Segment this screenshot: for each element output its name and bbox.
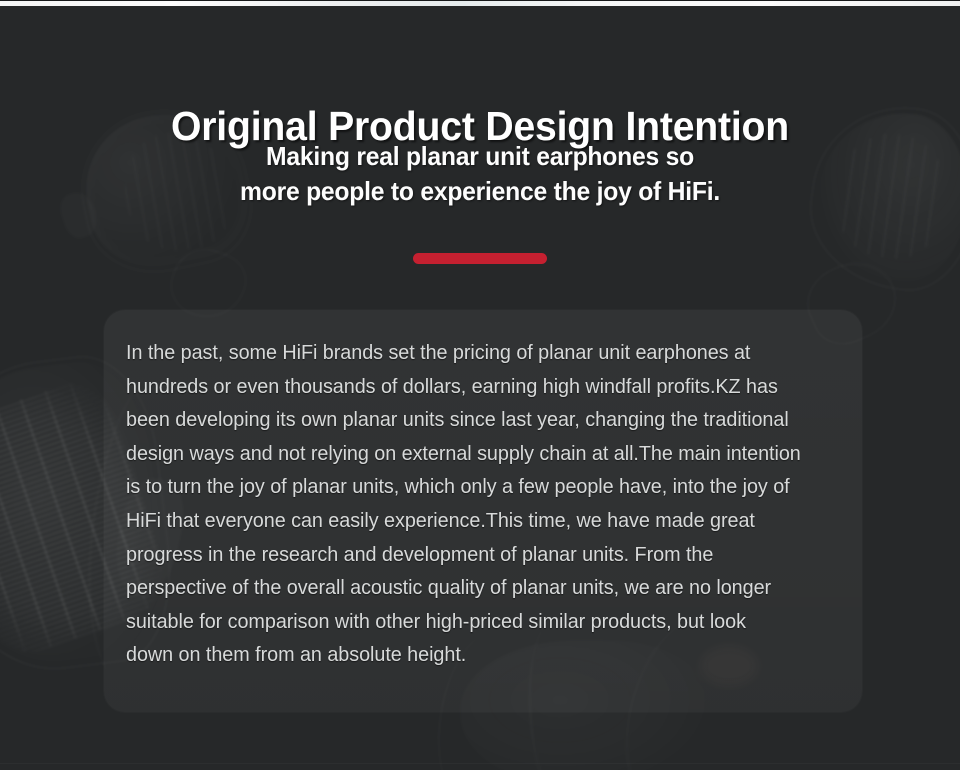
intro-paragraph-line: been developing its own planar units sin…	[126, 403, 836, 437]
product-design-intention-banner: Original Product Design Intention Making…	[0, 0, 960, 770]
page-subtitle-line: Making real planar unit earphones so	[24, 139, 936, 174]
page-subtitle: Making real planar unit earphones so mor…	[24, 139, 936, 209]
intro-paragraph-line: perspective of the overall acoustic qual…	[126, 571, 836, 605]
intro-paragraph-line: is to turn the joy of planar units, whic…	[126, 470, 836, 504]
intro-paragraph: In the past, some HiFi brands set the pr…	[126, 336, 836, 672]
page-subtitle-line: more people to experience the joy of HiF…	[24, 174, 936, 209]
red-accent-bar	[413, 253, 547, 264]
intro-paragraph-line: down on them from an absolute height.	[126, 638, 836, 672]
intro-paragraph-line: hundreds or even thousands of dollars, e…	[126, 370, 836, 404]
intro-paragraph-line: design ways and not relying on external …	[126, 437, 836, 471]
top-light-strip	[0, 1, 960, 6]
intro-paragraph-line: In the past, some HiFi brands set the pr…	[126, 336, 836, 370]
intro-paragraph-line: HiFi that everyone can easily experience…	[126, 504, 836, 538]
banner-content: Original Product Design Intention Making…	[0, 0, 960, 770]
intro-paragraph-line: progress in the research and development…	[126, 538, 836, 572]
intro-paragraph-line: suitable for comparison with other high-…	[126, 605, 836, 639]
